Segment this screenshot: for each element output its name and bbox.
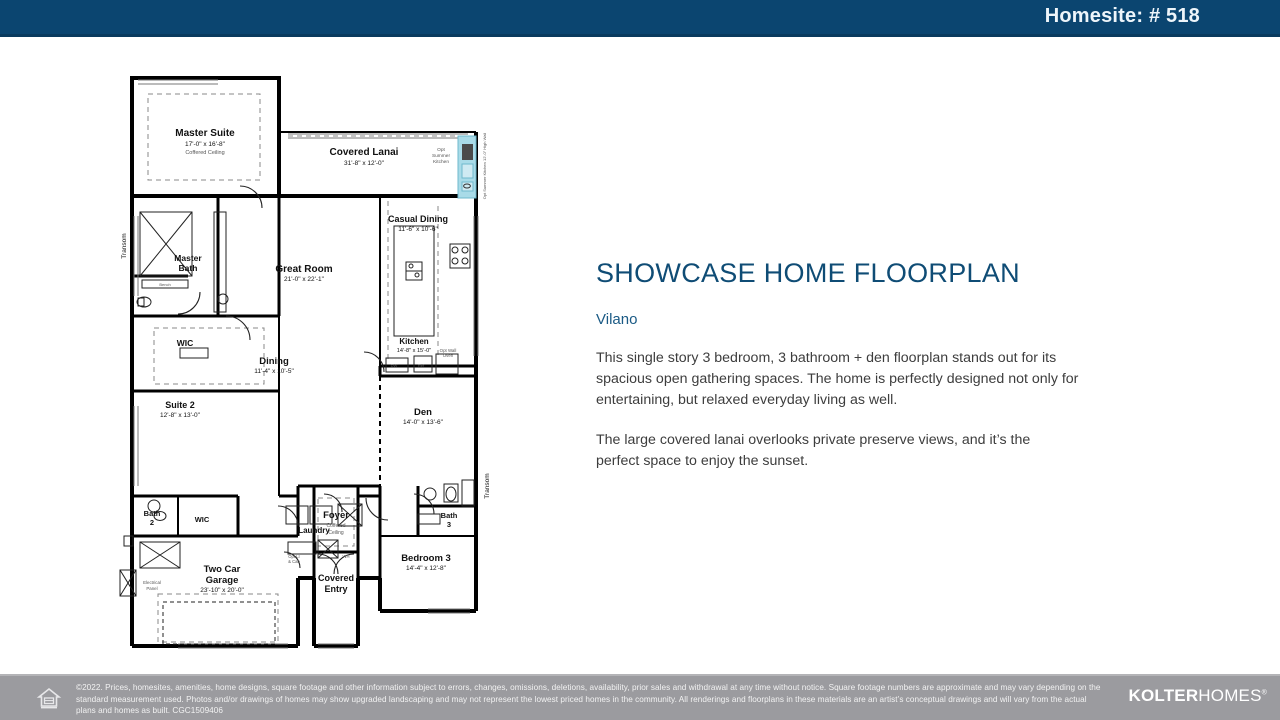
room-label-casual-dining: Casual Dining xyxy=(388,214,448,224)
header-accent-line xyxy=(0,34,1280,37)
kolter-homes-logo: KOLTERHOMES® xyxy=(1128,686,1267,706)
room-label-den: Den xyxy=(414,407,432,418)
room-dims-bedroom-3: 14'-4" x 12'-8" xyxy=(406,565,447,572)
footer-bar: ©2022. Prices, homesites, amenities, hom… xyxy=(0,676,1280,720)
bench-label: Bench xyxy=(159,282,170,287)
transom-label-right: Transom xyxy=(484,473,491,498)
room-dims-covered-lanai: 31'-8" x 12'-0" xyxy=(344,160,385,167)
slide-page: Homesite: # 518 xyxy=(0,0,1280,720)
room-label-bath-3-line1: Bath xyxy=(441,511,458,520)
logo-thin-text: HOMES xyxy=(1198,686,1261,705)
summer-kitchen-wall-note: Opt Summer Kitchen 12'-0" High Wall xyxy=(482,133,487,200)
room-dims-garage: 23'-10" x 20'-0" xyxy=(200,587,244,594)
room-label-covered-entry-line1: Covered xyxy=(318,573,354,583)
room-label-kitchen: Kitchen xyxy=(399,337,428,346)
dishwasher-label: DW xyxy=(391,363,398,368)
room-label-covered-entry-line2: Entry xyxy=(324,584,347,594)
room-dims-suite-2: 12'-8" x 13'-0" xyxy=(160,412,201,419)
foyer-note-line2: Ceiling xyxy=(328,530,344,536)
room-dims-den: 14'-0" x 13'-6" xyxy=(403,419,444,426)
electrical-panel-line1: Electrical xyxy=(143,580,161,585)
room-label-suite-2: Suite 2 xyxy=(165,400,195,410)
room-label-wic-hall: WIC xyxy=(195,515,210,524)
room-note-master-suite: Coffered Ceiling xyxy=(185,150,224,156)
water-heater-label: WH xyxy=(343,554,350,559)
room-label-great-room: Great Room xyxy=(275,264,332,275)
room-label-garage-line1: Two Car xyxy=(204,564,241,575)
page-title: SHOWCASE HOME FLOORPLAN xyxy=(596,258,1096,289)
legal-disclaimer: ©2022. Prices, homesites, amenities, hom… xyxy=(76,682,1106,717)
logo-registered-mark: ® xyxy=(1262,689,1267,696)
opt-summer-kitchen-line3: Kitchen xyxy=(433,159,449,165)
opt-wall-oven-line2: Oven xyxy=(443,353,454,358)
room-label-bath-3-line2: 3 xyxy=(447,520,451,529)
opt-li-cab-line2: & Cab xyxy=(288,559,300,564)
room-label-master-suite: Master Suite xyxy=(175,128,235,139)
floorplan-info-panel: SHOWCASE HOME FLOORPLAN Vilano This sing… xyxy=(596,258,1096,486)
room-dims-casual-dining: 11'-6" x 10'-6" xyxy=(398,226,438,233)
room-dims-kitchen: 14'-8" x 15'-0" xyxy=(397,348,431,354)
room-label-wic-master: WIC xyxy=(177,338,194,348)
room-label-bath-2-line2: 2 xyxy=(150,518,154,527)
opt-summer-kitchen-line1: Opt xyxy=(437,147,445,153)
description-paragraph-2: The large covered lanai overlooks privat… xyxy=(596,430,1066,472)
room-label-dining: Dining xyxy=(259,356,289,367)
room-label-bath-2-line1: Bath xyxy=(144,509,161,518)
room-label-master-bath-line1: Master xyxy=(174,253,202,263)
room-label-master-bath-line2: Bath xyxy=(179,263,198,273)
equal-housing-opportunity-icon xyxy=(36,685,62,711)
opt-summer-kitchen-line2: Summer xyxy=(432,153,451,159)
floorplan-drawing: Master Suite 17'-0" x 16'-8" Coffered Ce… xyxy=(118,66,518,666)
electrical-panel-line2: Panel xyxy=(146,586,157,591)
room-label-garage-line2: Garage xyxy=(206,575,239,586)
room-label-covered-lanai: Covered Lanai xyxy=(330,147,399,158)
refrigerator-label: Ref xyxy=(418,363,425,368)
description-paragraph-1: This single story 3 bedroom, 3 bathroom … xyxy=(596,348,1083,411)
logo-bold-text: KOLTER xyxy=(1128,686,1198,705)
room-label-foyer: Foyer xyxy=(323,510,349,521)
plan-name: Vilano xyxy=(596,311,1096,328)
room-label-bedroom-3: Bedroom 3 xyxy=(401,553,451,564)
transom-label-left: Transom xyxy=(121,233,128,258)
foyer-note-line1: Coffered xyxy=(326,523,345,529)
room-dims-dining: 11'-4" x 10'-5" xyxy=(254,368,294,375)
homesite-label: Homesite: # 518 xyxy=(1045,5,1200,28)
room-dims-master-suite: 17'-0" x 16'-8" xyxy=(185,141,226,148)
top-header-bar: Homesite: # 518 xyxy=(0,0,1280,34)
room-dims-great-room: 21'-0" x 22'-1" xyxy=(284,276,325,283)
